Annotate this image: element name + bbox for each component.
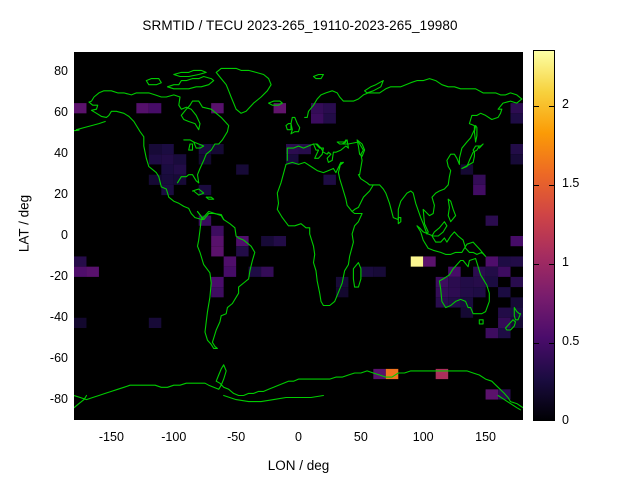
y-tick-label: -80 [22, 392, 68, 406]
heatmap-cell [448, 287, 460, 297]
heatmap-cell [161, 164, 173, 174]
heatmap-cell [511, 144, 523, 154]
coastline-path [314, 75, 324, 79]
coastline-path [189, 144, 193, 150]
coastline-path [305, 79, 522, 118]
heatmap-cell [473, 277, 485, 287]
heatmap-cell [211, 226, 223, 236]
heatmap-cell [211, 236, 223, 246]
heatmap-cell [74, 267, 86, 277]
coastline-path [373, 99, 522, 234]
heatmap-cell [511, 236, 523, 246]
colorbar-tick-mark [534, 185, 539, 186]
heatmap-cell [236, 246, 248, 256]
plot-title: SRMTID / TECU 2023-265_19110-2023-265_19… [0, 18, 600, 33]
heatmap-cell [436, 277, 448, 287]
heatmap-cell [286, 144, 298, 154]
heatmap-cells [74, 103, 523, 399]
heatmap-cell [224, 267, 236, 277]
heatmap-cell [149, 154, 161, 164]
colorbar-tick-mark [549, 106, 554, 107]
heatmap-cell [486, 256, 498, 266]
heatmap-cell [336, 287, 348, 297]
heatmap-cell [261, 267, 273, 277]
heatmap-cell [498, 287, 510, 297]
heatmap-cell [261, 236, 273, 246]
heatmap-cell [448, 277, 460, 287]
colorbar-tick-mark [534, 106, 539, 107]
heatmap-cell [174, 154, 186, 164]
coastlines [74, 68, 523, 409]
heatmap-cell [161, 144, 173, 154]
colorbar-tick-mark [534, 343, 539, 344]
heatmap-cell [211, 103, 223, 113]
coastline-path [174, 70, 206, 76]
coastline-path [353, 263, 361, 288]
heatmap-cell [498, 267, 510, 277]
heatmap-cell [486, 389, 498, 399]
x-tick-label: 100 [393, 430, 453, 444]
heatmap-cell [211, 246, 223, 256]
colorbar[interactable] [533, 50, 555, 421]
heatmap-cell [274, 236, 286, 246]
x-tick-label: 50 [331, 430, 391, 444]
coastline-path [168, 77, 214, 89]
colorbar-tick-mark [549, 264, 554, 265]
heatmap-cell [511, 113, 523, 123]
heatmap-cell [236, 164, 248, 174]
coastline-path [479, 320, 483, 324]
x-tick-label: 0 [269, 430, 329, 444]
coastline-path [198, 212, 255, 349]
coastline-path [398, 218, 401, 224]
coastline-path [277, 140, 373, 306]
y-tick-label: 60 [22, 105, 68, 119]
colorbar-tick-mark [534, 264, 539, 265]
coastline-path [224, 396, 324, 402]
heatmap-cell [74, 318, 86, 328]
heatmap-cell [498, 318, 510, 328]
heatmap-cell [373, 267, 385, 277]
heatmap-cell [511, 308, 523, 318]
heatmap-cell [486, 267, 498, 277]
x-tick-label: -150 [81, 430, 141, 444]
figure-canvas: SRMTID / TECU 2023-265_19110-2023-265_19… [0, 0, 640, 480]
heatmap-cell [323, 175, 335, 185]
colorbar-tick-label: 1 [562, 255, 612, 269]
heatmap-cell [486, 216, 498, 226]
heatmap-cell [323, 113, 335, 123]
heatmap-cell [461, 287, 473, 297]
y-axis-label: LAT / deg [17, 154, 32, 294]
heatmap-cell [136, 103, 148, 113]
map-plot-panel[interactable] [74, 52, 523, 420]
colorbar-tick-label: 2 [562, 97, 612, 111]
colorbar-tick-mark [549, 343, 554, 344]
heatmap-cell [511, 103, 523, 113]
coastline-path [474, 126, 477, 142]
coastline-path [74, 130, 79, 131]
heatmap-cell [511, 256, 523, 266]
coastline-path [146, 79, 161, 85]
coastline-path [291, 117, 300, 133]
heatmap-cell [211, 287, 223, 297]
colorbar-tick-label: 0.5 [562, 334, 612, 348]
heatmap-cell [411, 256, 423, 266]
heatmap-cell [461, 277, 473, 287]
heatmap-cell [473, 185, 485, 195]
heatmap-cell [323, 103, 335, 113]
heatmap-cell [161, 175, 173, 185]
map-svg [74, 52, 523, 420]
heatmap-cell [74, 256, 86, 266]
heatmap-cell [149, 144, 161, 154]
y-tick-label: -40 [22, 310, 68, 324]
colorbar-tick-label: 0 [562, 413, 612, 427]
y-tick-label: 80 [22, 64, 68, 78]
coastline-path [77, 122, 106, 130]
coastline-path [286, 124, 291, 130]
heatmap-cell [224, 256, 236, 266]
heatmap-cell [486, 328, 498, 338]
heatmap-cell [448, 267, 460, 277]
coastline-path [206, 197, 214, 199]
heatmap-cell [473, 175, 485, 185]
heatmap-cell [199, 144, 211, 154]
coastline-path [417, 222, 486, 257]
x-axis-label: LON / deg [74, 458, 523, 473]
colorbar-tick-mark [549, 185, 554, 186]
heatmap-cell [211, 277, 223, 287]
coastline-path [365, 81, 384, 93]
heatmap-cell [74, 103, 86, 113]
heatmap-cell [174, 164, 186, 174]
heatmap-cell [473, 287, 485, 297]
x-tick-label: 150 [456, 430, 516, 444]
heatmap-cell [498, 256, 510, 266]
heatmap-cell [511, 154, 523, 164]
heatmap-cell [149, 103, 161, 113]
heatmap-cell [423, 256, 435, 266]
colorbar-tick-label: 1.5 [562, 176, 612, 190]
heatmap-cell [199, 154, 211, 164]
y-tick-label: -60 [22, 351, 68, 365]
heatmap-cell [211, 144, 223, 154]
heatmap-cell [511, 297, 523, 307]
heatmap-cell [436, 287, 448, 297]
heatmap-cell [311, 103, 323, 113]
x-tick-label: -50 [206, 430, 266, 444]
coastline-path [216, 68, 271, 113]
heatmap-cell [311, 113, 323, 123]
heatmap-cell [161, 154, 173, 164]
heatmap-cell [86, 267, 98, 277]
coastline-path [74, 365, 523, 408]
coastline-path [448, 199, 455, 222]
heatmap-cell [361, 267, 373, 277]
heatmap-cell [511, 277, 523, 287]
heatmap-cell [498, 308, 510, 318]
x-tick-label: -100 [144, 430, 204, 444]
heatmap-cell [149, 318, 161, 328]
